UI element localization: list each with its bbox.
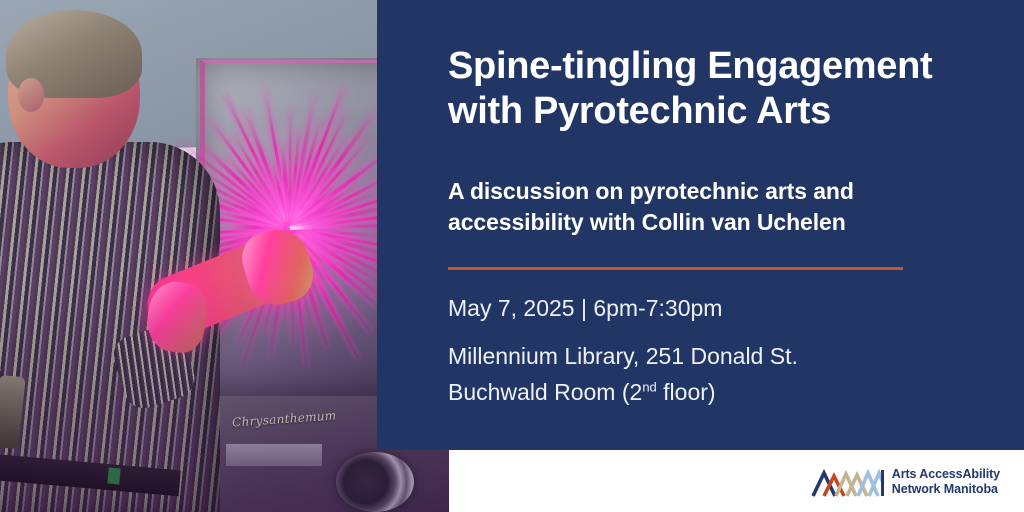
event-venue-ordinal-suffix: nd [642,379,656,394]
event-datetime: May 7, 2025 | 6pm-7:30pm [448,293,968,323]
event-venue-line-2-before: Buchwald Room (2 [448,379,642,405]
event-venue: Millennium Library, 251 Donald St. Buchw… [448,338,968,410]
cabinet-label: Chrysanthemum [232,408,337,429]
logo-text-line-2: Network Manitoba [892,482,998,496]
event-venue-line-2-after: floor) [657,379,716,405]
cabinet-name-plate [226,444,322,466]
event-title-line-2: with Pyrotechnic Arts [448,90,831,132]
info-panel: Spine-tingling Engagement with Pyrotechn… [377,0,1024,450]
event-subtitle-line-1: A discussion on pyrotechnic arts and [448,178,854,204]
event-poster: Chrysanthemum Spine-tingling Engagement … [0,0,1024,512]
event-subtitle-line-2: accessibility with Collin van Uchelen [448,209,846,235]
belt-tag [107,468,120,485]
cylinder-lens-object [336,452,414,512]
event-title-line-1: Spine-tingling Engagement [448,45,932,87]
aanm-zigzag-mark [811,466,885,498]
organization-logo-text: Arts AccessAbility Network Manitoba [892,467,1000,497]
accent-divider [448,267,903,270]
footer-bar: Arts AccessAbility Network Manitoba [449,450,1024,512]
organization-logo[interactable]: Arts AccessAbility Network Manitoba [811,466,1000,498]
info-panel-content: Spine-tingling Engagement with Pyrotechn… [448,0,1008,450]
logo-text-line-1: Arts AccessAbility [892,467,1000,481]
event-subtitle: A discussion on pyrotechnic arts and acc… [448,176,918,238]
person-ear [18,78,44,112]
event-venue-line-1: Millennium Library, 251 Donald St. [448,343,798,369]
event-title: Spine-tingling Engagement with Pyrotechn… [448,44,993,134]
